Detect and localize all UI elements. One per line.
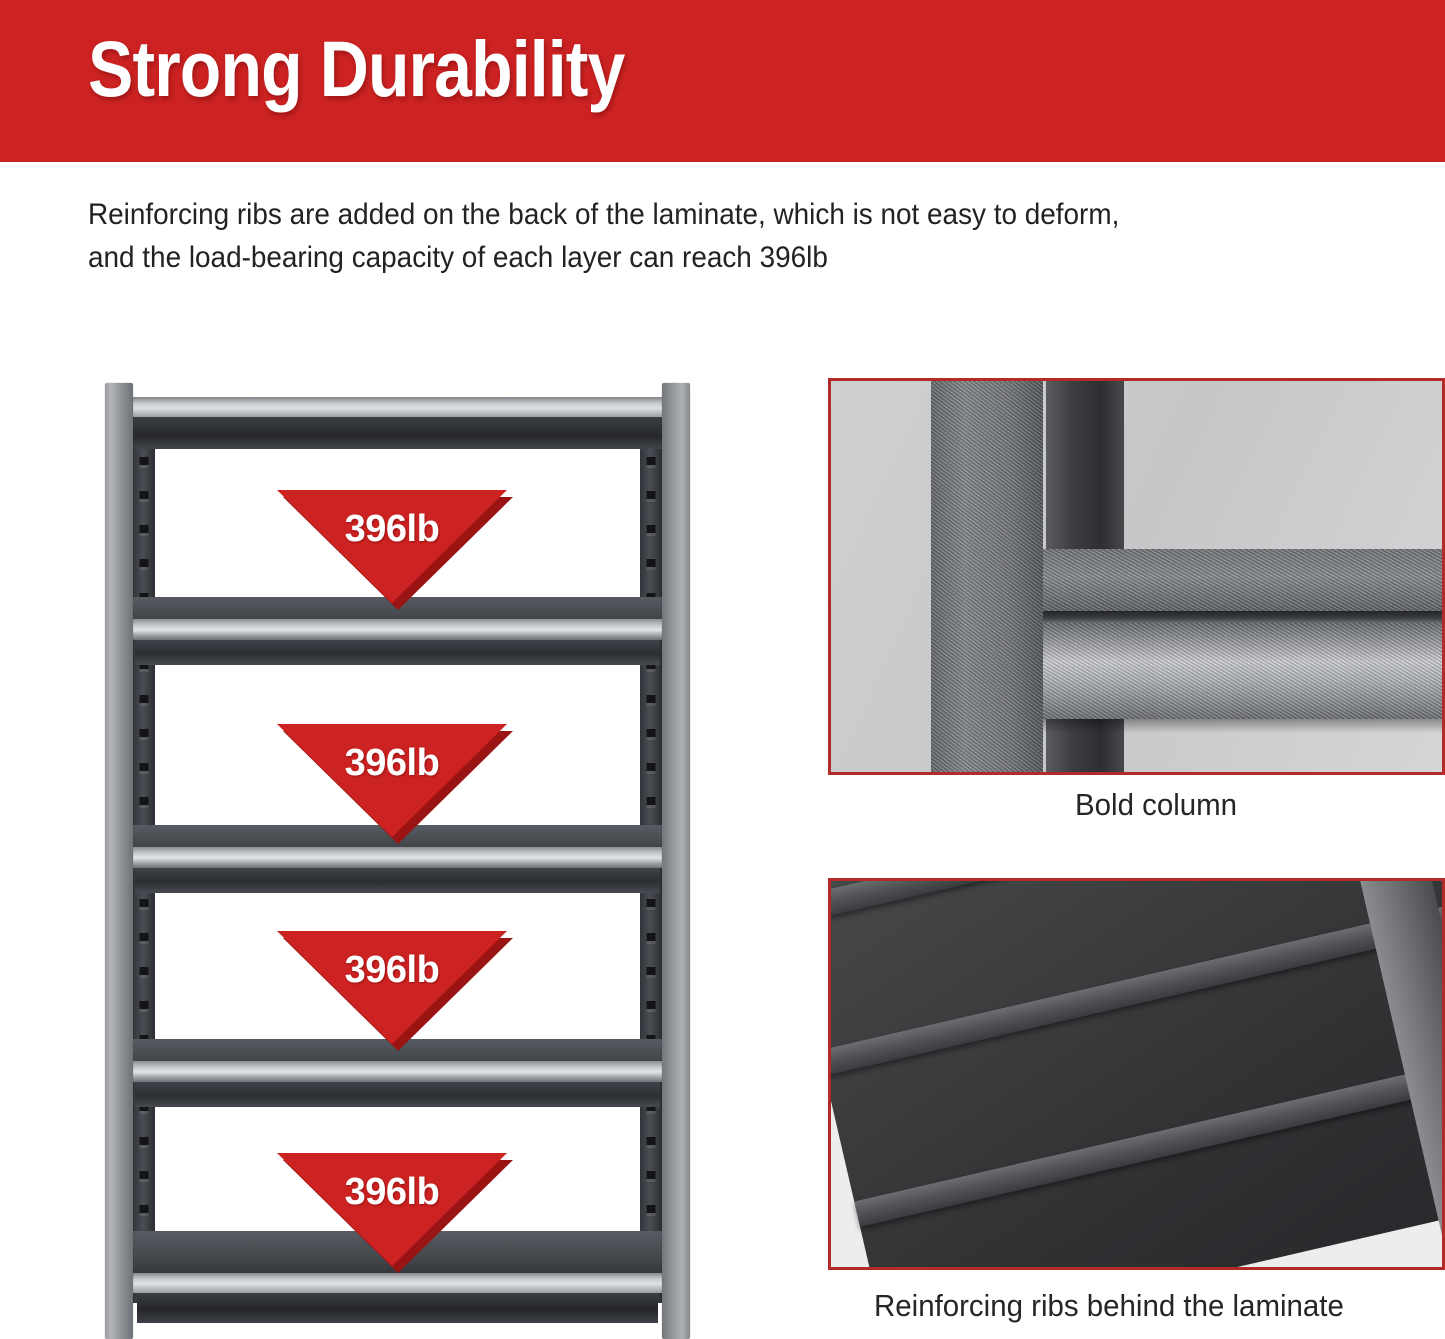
header-banner: Strong Durability — [0, 0, 1445, 162]
beam-1-lip — [135, 640, 660, 665]
badge-label: 396lb — [277, 1173, 507, 1211]
badge-label: 396lb — [277, 744, 507, 782]
description-text: Reinforcing ribs are added on the back o… — [88, 194, 1260, 279]
load-badge: 396lb — [277, 931, 513, 1051]
load-badge: 396lb — [277, 1153, 513, 1273]
foot-lip — [137, 1293, 658, 1323]
shelf-beam-3 — [127, 1061, 668, 1107]
beam-2-top — [127, 847, 668, 868]
front-column-macro — [931, 381, 1043, 772]
load-badge: 396lb — [277, 724, 513, 844]
shelf-post-right — [662, 383, 690, 1339]
shelving-unit-image: 396lb 396lb 396lb 396lb — [105, 383, 690, 1339]
description-line-2: and the load-bearing capacity of each la… — [88, 237, 1260, 280]
beam-upper-face — [1043, 549, 1442, 611]
cross-beam-macro — [1043, 549, 1442, 739]
badge-label: 396lb — [277, 951, 507, 989]
beam-1-top — [127, 619, 668, 640]
detail-photo-bold-column — [828, 378, 1445, 775]
reinforcing-rib — [828, 878, 1445, 925]
caption-reinforcing-ribs: Reinforcing ribs behind the laminate — [874, 1290, 1344, 1321]
beam-3-top — [127, 1061, 668, 1082]
detail-photo-reinforcing-ribs — [828, 878, 1445, 1270]
shelf-foot — [127, 1273, 668, 1333]
caption-bold-column: Bold column — [1075, 789, 1237, 820]
beam-2-lip — [135, 868, 660, 893]
reinforcing-rib — [854, 1031, 1445, 1227]
description-line-1: Reinforcing ribs are added on the back o… — [88, 194, 1260, 237]
badge-label: 396lb — [277, 510, 507, 548]
beam-lower-face — [1043, 623, 1442, 719]
shelf-top-cap — [127, 397, 668, 449]
shelf-beam-1 — [127, 619, 668, 665]
beam-drop-shadow — [1043, 719, 1442, 733]
page-title: Strong Durability — [88, 29, 624, 108]
top-cap-lip — [133, 417, 662, 449]
shelf-beam-2 — [127, 847, 668, 893]
beam-seam — [1043, 611, 1442, 623]
top-cap-highlight — [127, 397, 668, 417]
beam-3-lip — [135, 1082, 660, 1107]
load-badge: 396lb — [277, 490, 513, 610]
shelf-post-left — [105, 383, 133, 1339]
foot-highlight — [127, 1273, 668, 1293]
reinforcing-rib — [828, 880, 1445, 1076]
laminate-underside — [828, 878, 1445, 1270]
